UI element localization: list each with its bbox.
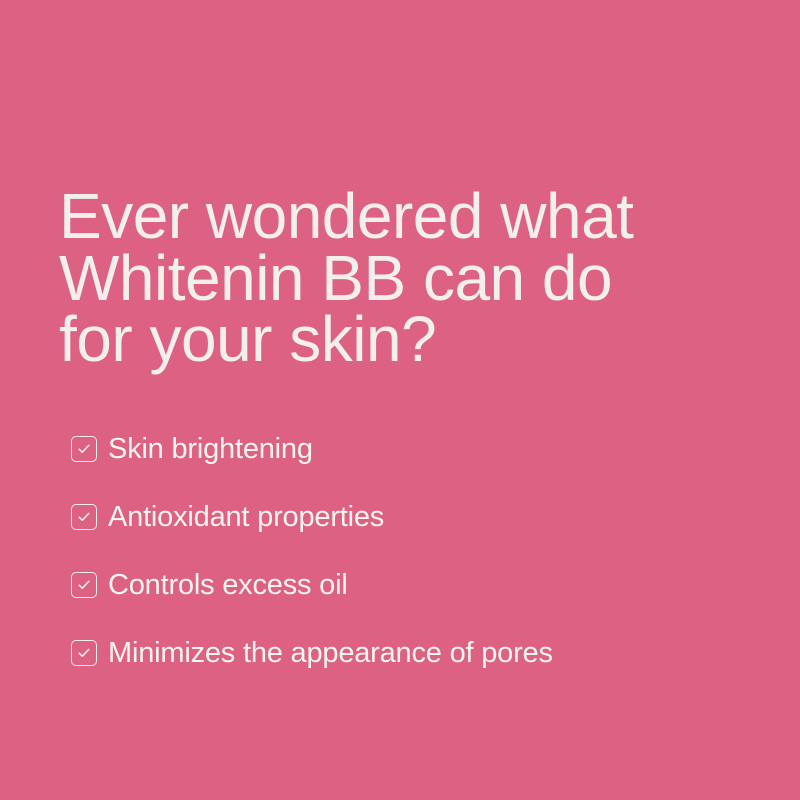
- benefit-label: Controls excess oil: [108, 570, 348, 600]
- benefit-label: Skin brightening: [108, 434, 313, 464]
- list-item: Antioxidant properties: [71, 502, 751, 532]
- list-item: Minimizes the appearance of pores: [71, 638, 751, 668]
- checkbox-checked-icon[interactable]: [71, 640, 97, 666]
- list-item: Controls excess oil: [71, 570, 751, 600]
- benefit-label: Antioxidant properties: [108, 502, 384, 532]
- checkbox-checked-icon[interactable]: [71, 572, 97, 598]
- benefit-label: Minimizes the appearance of pores: [108, 638, 553, 668]
- checkbox-checked-icon[interactable]: [71, 504, 97, 530]
- list-item: Skin brightening: [71, 434, 751, 464]
- page-title: Ever wondered what Whitenin BB can do fo…: [59, 186, 719, 371]
- checkbox-checked-icon[interactable]: [71, 436, 97, 462]
- promo-poster: Ever wondered what Whitenin BB can do fo…: [0, 0, 800, 800]
- benefit-list: Skin brightening Antioxidant properties …: [71, 434, 751, 668]
